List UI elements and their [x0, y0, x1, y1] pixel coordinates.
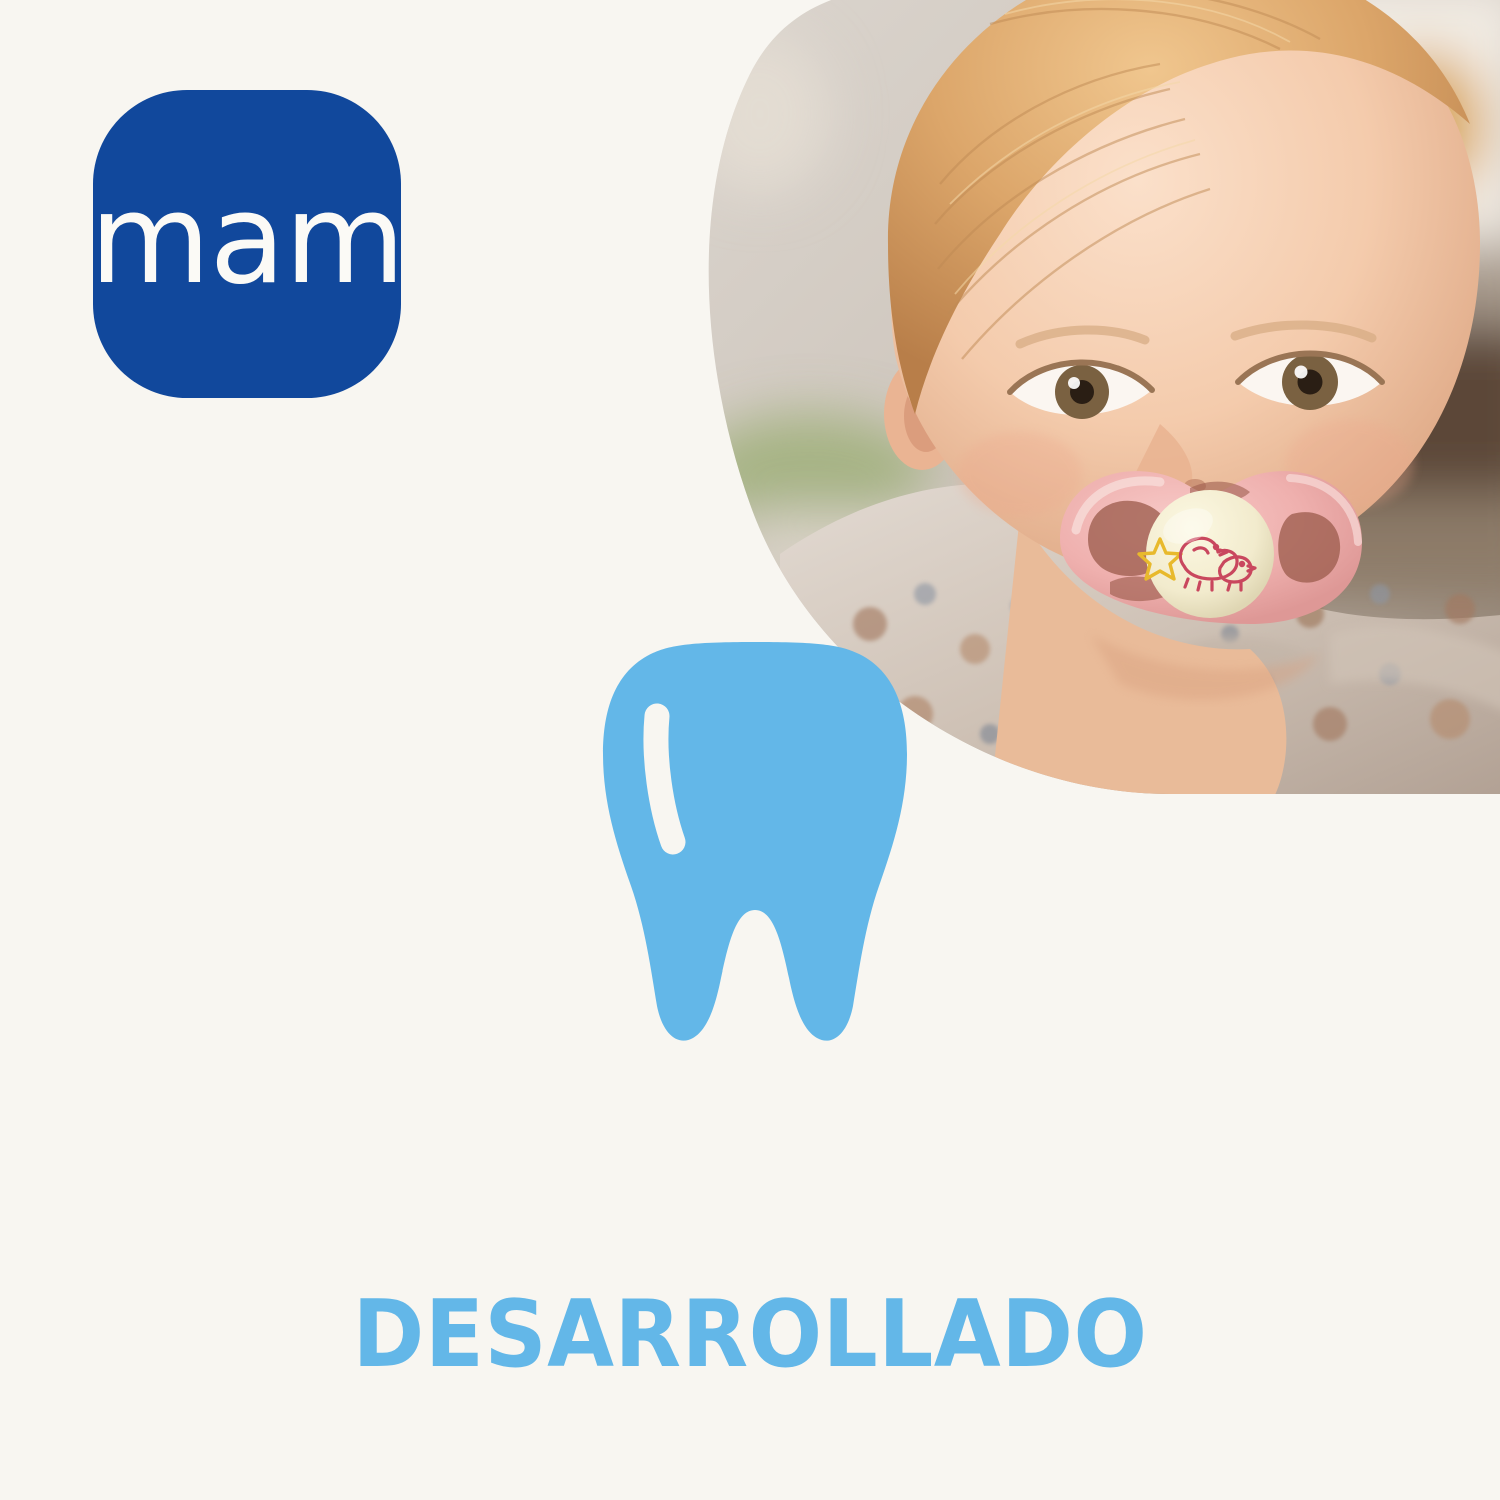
tooth-shape: [603, 642, 907, 1041]
product-claim-banner: mam: [0, 0, 1500, 1500]
headline: DESARROLLADO CON ORTODONCISTAS Y DENTIST…: [53, 1082, 1448, 1500]
tooth-icon: [595, 628, 915, 1048]
mam-brand-logo[interactable]: mam: [93, 90, 401, 398]
headline-line-1: DESARROLLADO: [53, 1284, 1448, 1385]
brand-wordmark: mam: [90, 178, 405, 302]
